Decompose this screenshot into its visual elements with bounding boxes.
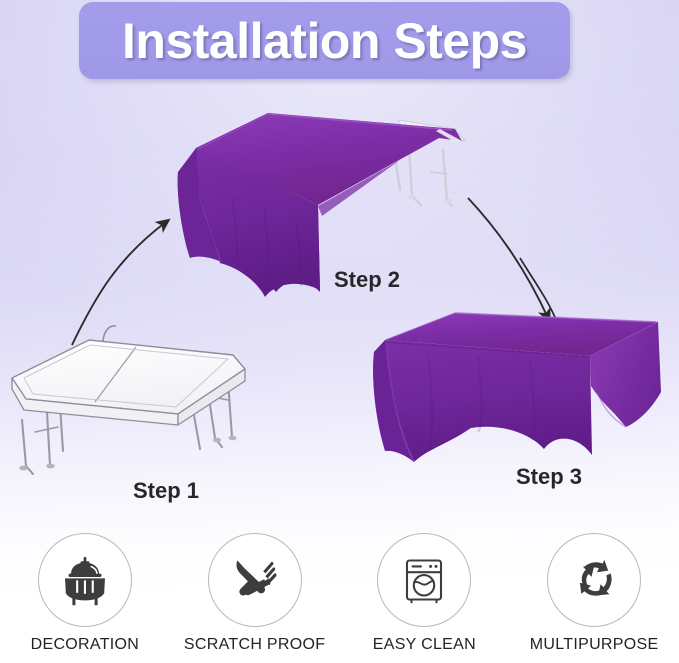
feature-scratch-proof-label: SCRATCH PROOF [184, 636, 325, 654]
feature-multipurpose: MULTIPURPOSE [509, 524, 679, 663]
installation-steps-poster: Installation Steps [0, 0, 679, 663]
washing-machine-icon [394, 550, 454, 610]
recycle-arrows-icon [564, 550, 624, 610]
step-3-label: Step 3 [516, 464, 582, 490]
steps-illustration-scene [0, 0, 679, 525]
feature-decoration: DECORATION [0, 524, 170, 663]
arrow-step1-to-step2 [72, 222, 166, 345]
feature-easy-clean: EASY CLEAN [340, 524, 510, 663]
knife-and-fork-icon [225, 550, 285, 610]
feature-decoration-label: DECORATION [31, 636, 139, 654]
feature-scratch-proof-circle [208, 533, 302, 627]
feature-multipurpose-label: MULTIPURPOSE [530, 636, 659, 654]
feature-easy-clean-circle [377, 533, 471, 627]
feature-scratch-proof: SCRATCH PROOF [170, 524, 340, 663]
table-with-cloche-icon [55, 550, 115, 610]
feature-multipurpose-circle [547, 533, 641, 627]
step-3-illustration [373, 313, 661, 462]
step-2-illustration [178, 113, 465, 297]
feature-row: DECORATION [0, 524, 679, 663]
step-2-label: Step 2 [334, 267, 400, 293]
feature-decoration-circle [38, 533, 132, 627]
step-1-illustration [12, 326, 245, 474]
arrow-step2-to-step3 [468, 198, 557, 322]
step-1-label: Step 1 [133, 478, 199, 504]
feature-easy-clean-label: EASY CLEAN [373, 636, 476, 654]
